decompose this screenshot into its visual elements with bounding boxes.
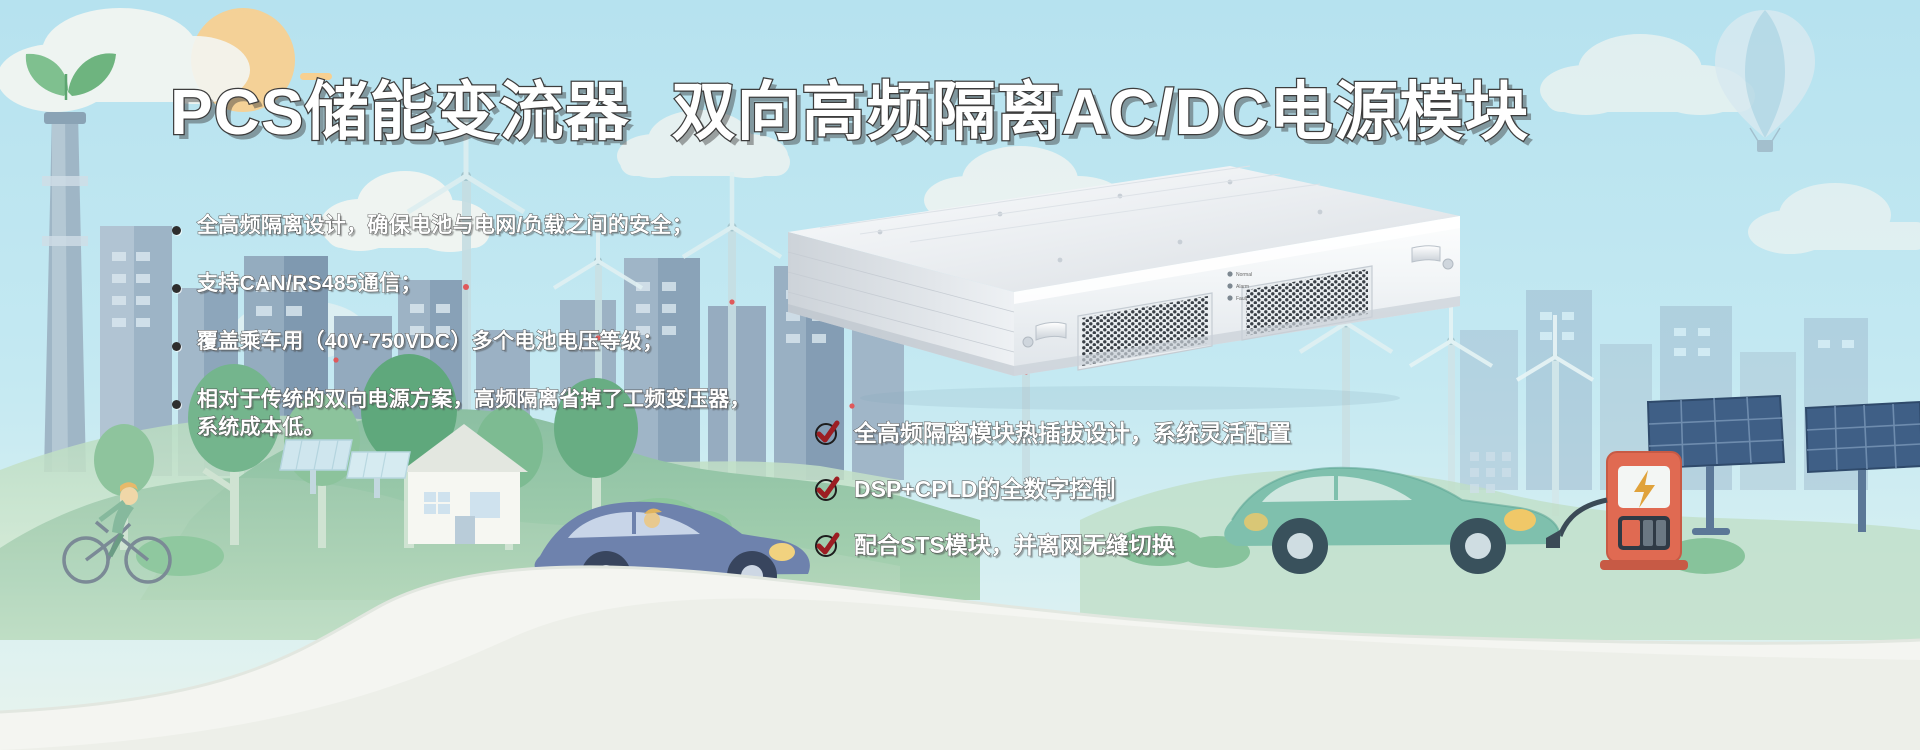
check-circle-icon — [814, 476, 840, 502]
feature-text: 覆盖乘车用（40V-750VDC）多个电池电压等级； — [197, 328, 663, 356]
check-circle-icon — [814, 532, 840, 558]
list-item: 配合STS模块，并离网无缝切换 — [814, 530, 1574, 560]
list-item: 支持CAN/RS485通信； — [172, 270, 932, 298]
bullet-dot-icon — [172, 226, 181, 235]
product-banner: Normal Alarm Fault PCS储能变流器 双向高频隔离AC/DC电… — [0, 0, 1920, 750]
highlight-text: DSP+CPLD的全数字控制 — [854, 474, 1115, 504]
highlight-text: 配合STS模块，并离网无缝切换 — [854, 530, 1175, 560]
feature-text: 支持CAN/RS485通信； — [197, 270, 422, 298]
bullet-dot-icon — [172, 400, 181, 409]
highlight-list: 全高频隔离模块热插拔设计，系统灵活配置 DSP+CPLD的全数字控制 配合STS… — [814, 418, 1574, 586]
list-item: DSP+CPLD的全数字控制 — [814, 474, 1574, 504]
feature-text: 相对于传统的双向电源方案，高频隔离省掉了工频变压器，系统成本低。 — [197, 386, 757, 442]
bullet-dot-icon — [172, 342, 181, 351]
list-item: 覆盖乘车用（40V-750VDC）多个电池电压等级； — [172, 328, 932, 356]
led-label-alarm: Alarm — [1236, 284, 1249, 290]
feature-text: 全高频隔离设计，确保电池与电网/负载之间的安全； — [197, 212, 693, 240]
bullet-dot-icon — [172, 284, 181, 293]
list-item: 全高频隔离设计，确保电池与电网/负载之间的安全； — [172, 212, 932, 240]
led-label-normal: Normal — [1236, 272, 1252, 278]
highlight-text: 全高频隔离模块热插拔设计，系统灵活配置 — [854, 418, 1291, 448]
led-label-fault: Fault — [1236, 296, 1248, 302]
list-item: 全高频隔离模块热插拔设计，系统灵活配置 — [814, 418, 1574, 448]
check-circle-icon — [814, 420, 840, 446]
